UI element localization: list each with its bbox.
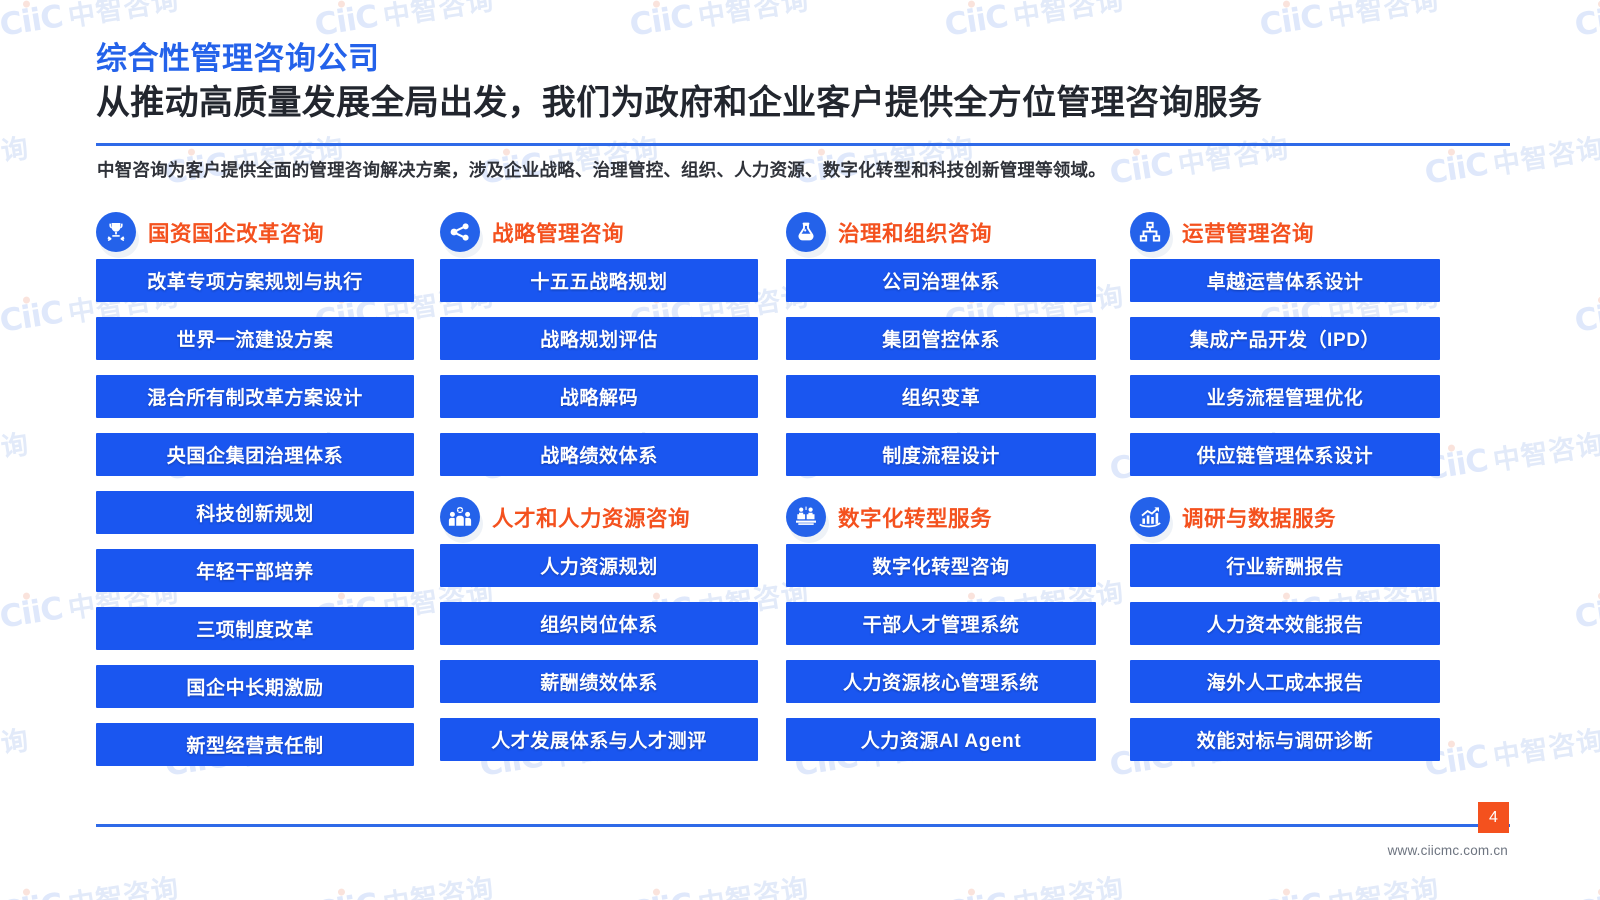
watermark-brand-text: 中智咨询 (1325, 866, 1442, 900)
service-item[interactable]: 海外人工成本报告 (1130, 660, 1440, 703)
watermark-logo-text: CiiC (1572, 886, 1600, 900)
watermark-brand-text: 中智咨询 (0, 126, 32, 182)
service-item[interactable]: 集成产品开发（IPD） (1130, 317, 1440, 360)
service-item[interactable]: 数字化转型咨询 (786, 544, 1096, 587)
service-item[interactable]: 卓越运营体系设计 (1130, 259, 1440, 302)
watermark-logo-text: CiiC (1572, 294, 1600, 339)
group-header: 人才和人力资源咨询 (440, 490, 758, 544)
service-item[interactable]: 薪酬绩效体系 (440, 660, 758, 703)
watermark: CiiC中智咨询 (0, 866, 182, 900)
watermark: CiiC中智咨询 (1257, 866, 1442, 900)
watermark-brand-text: 中智咨询 (1490, 422, 1600, 478)
watermark-logo-text: CiiC (312, 0, 380, 43)
group-header: 运营管理咨询 (1130, 205, 1440, 259)
service-item[interactable]: 制度流程设计 (786, 433, 1096, 476)
service-item[interactable]: 十五五战略规划 (440, 259, 758, 302)
service-item[interactable]: 人力资源核心管理系统 (786, 660, 1096, 703)
service-item[interactable]: 战略绩效体系 (440, 433, 758, 476)
group-column-2: 战略管理咨询十五五战略规划战略规划评估战略解码战略绩效体系 人才和人力资源咨询人… (440, 205, 758, 761)
watermark: CiiC中智咨询 (627, 866, 812, 900)
service-item[interactable]: 国企中长期激励 (96, 665, 414, 708)
service-item[interactable]: 效能对标与调研诊断 (1130, 718, 1440, 761)
service-item[interactable]: 人才发展体系与人才测评 (440, 718, 758, 761)
share-nodes-icon (440, 212, 480, 252)
service-item[interactable]: 新型经营责任制 (96, 723, 414, 766)
people-group-icon (440, 497, 480, 537)
group-title: 运营管理咨询 (1182, 217, 1314, 248)
watermark: CiiC中智咨询 (1257, 0, 1442, 45)
service-item[interactable]: 年轻干部培养 (96, 549, 414, 592)
watermark-brand-text: 中智咨询 (1490, 718, 1600, 774)
group-title: 数字化转型服务 (838, 502, 992, 533)
watermark-logo-text: CiiC (1257, 0, 1325, 43)
page-eyebrow: 综合性管理咨询公司 (96, 42, 380, 76)
trophy-wreath-icon (96, 212, 136, 252)
watermark: CiiC中智咨询 (1422, 126, 1600, 193)
group-title: 战略管理咨询 (492, 217, 624, 248)
watermark-logo-text: CiiC (0, 886, 65, 900)
footer-website: www.ciicmc.com.cn (1388, 843, 1508, 858)
watermark: CiiC中智咨询 (1572, 866, 1600, 900)
group-title: 人才和人力资源咨询 (492, 502, 690, 533)
service-item[interactable]: 人力资本效能报告 (1130, 602, 1440, 645)
footer-divider (96, 824, 1510, 827)
watermark-brand-text: 中智咨询 (0, 422, 32, 478)
watermark-logo-text: CiiC (1422, 146, 1490, 191)
group-header: 战略管理咨询 (440, 205, 758, 259)
service-item[interactable]: 人力资源规划 (440, 544, 758, 587)
service-item[interactable]: 组织变革 (786, 375, 1096, 418)
service-item[interactable]: 央国企集团治理体系 (96, 433, 414, 476)
watermark-logo-text: CiiC (1572, 590, 1600, 635)
watermark-brand-text: 中智咨询 (65, 866, 182, 900)
watermark-logo-text: CiiC (942, 0, 1010, 43)
group-title: 治理和组织咨询 (838, 217, 992, 248)
group-column-3: 治理和组织咨询公司治理体系集团管控体系组织变革制度流程设计 数字化转型服务数字化… (786, 205, 1096, 761)
service-item[interactable]: 公司治理体系 (786, 259, 1096, 302)
watermark: CiiC中智咨询 (1572, 0, 1600, 45)
watermark-brand-text: 中智咨询 (695, 866, 812, 900)
watermark-logo-text: CiiC (0, 0, 65, 43)
org-chart-icon (1130, 212, 1170, 252)
watermark: CiiC中智咨询 (1107, 126, 1292, 193)
watermark-logo-text: CiiC (627, 886, 695, 900)
watermark-brand-text: 中智咨询 (1490, 126, 1600, 182)
watermark-brand-text: 中智咨询 (695, 0, 812, 34)
digital-people-icon (786, 497, 826, 537)
watermark: CiiC中智咨询 (1572, 274, 1600, 341)
watermark-logo-text: CiiC (942, 886, 1010, 900)
service-item[interactable]: 干部人才管理系统 (786, 602, 1096, 645)
growth-chart-icon (1130, 497, 1170, 537)
page-title: 从推动高质量发展全局出发，我们为政府和企业客户提供全方位管理咨询服务 (96, 84, 1262, 123)
watermark-brand-text: 中智咨询 (0, 718, 32, 774)
service-item[interactable]: 集团管控体系 (786, 317, 1096, 360)
service-item[interactable]: 改革专项方案规划与执行 (96, 259, 414, 302)
watermark-brand-text: 中智咨询 (380, 0, 497, 34)
watermark: CiiC中智咨询 (942, 0, 1127, 45)
watermark: CiiC中智咨询 (942, 866, 1127, 900)
service-item[interactable]: 战略解码 (440, 375, 758, 418)
service-item[interactable]: 科技创新规划 (96, 491, 414, 534)
service-item[interactable]: 供应链管理体系设计 (1130, 433, 1440, 476)
service-item[interactable]: 三项制度改革 (96, 607, 414, 650)
watermark: CiiC中智咨询 (1422, 718, 1600, 785)
watermark-brand-text: 中智咨询 (1010, 866, 1127, 900)
watermark-brand-text: 中智咨询 (1010, 0, 1127, 34)
page-number-badge: 4 (1478, 802, 1509, 833)
slide-canvas: CiiC中智咨询CiiC中智咨询CiiC中智咨询CiiC中智咨询CiiC中智咨询… (0, 0, 1600, 900)
group-header: 治理和组织咨询 (786, 205, 1096, 259)
watermark: CiiC中智咨询 (1572, 570, 1600, 637)
group-header: 国资国企改革咨询 (96, 205, 414, 259)
service-item[interactable]: 混合所有制改革方案设计 (96, 375, 414, 418)
watermark-brand-text: 中智咨询 (380, 866, 497, 900)
service-item[interactable]: 世界一流建设方案 (96, 317, 414, 360)
watermark: CiiC中智咨询 (312, 0, 497, 45)
watermark-brand-text: 中智咨询 (1175, 126, 1292, 182)
watermark: CiiC中智咨询 (627, 0, 812, 45)
group-title: 调研与数据服务 (1182, 502, 1336, 533)
watermark-logo-text: CiiC (312, 886, 380, 900)
group-column-1: 国资国企改革咨询改革专项方案规划与执行世界一流建设方案混合所有制改革方案设计央国… (96, 205, 414, 766)
watermark: CiiC中智咨询 (0, 126, 32, 193)
group-column-4: 运营管理咨询卓越运营体系设计集成产品开发（IPD）业务流程管理优化供应链管理体系… (1130, 205, 1440, 761)
watermark: CiiC中智咨询 (1422, 422, 1600, 489)
watermark: CiiC中智咨询 (0, 422, 32, 489)
watermark-brand-text: 中智咨询 (1325, 0, 1442, 34)
page-subtitle: 中智咨询为客户提供全面的管理咨询解决方案，涉及企业战略、治理管控、组织、人力资源… (97, 157, 1106, 182)
flask-icon (786, 212, 826, 252)
watermark: CiiC中智咨询 (0, 718, 32, 785)
watermark-brand-text: 中智咨询 (65, 0, 182, 34)
watermark-logo-text: CiiC (0, 590, 65, 635)
service-item[interactable]: 战略规划评估 (440, 317, 758, 360)
watermark-logo-text: CiiC (1572, 0, 1600, 43)
watermark: CiiC中智咨询 (0, 0, 182, 45)
service-item[interactable]: 人力资源AI Agent (786, 718, 1096, 761)
service-item[interactable]: 组织岗位体系 (440, 602, 758, 645)
service-item[interactable]: 行业薪酬报告 (1130, 544, 1440, 587)
watermark-logo-text: CiiC (0, 294, 65, 339)
watermark-logo-text: CiiC (1107, 146, 1175, 191)
group-title: 国资国企改革咨询 (148, 217, 324, 248)
watermark-logo-text: CiiC (627, 0, 695, 43)
title-divider (96, 143, 1510, 146)
service-item[interactable]: 业务流程管理优化 (1130, 375, 1440, 418)
watermark-logo-text: CiiC (1257, 886, 1325, 900)
group-header: 调研与数据服务 (1130, 490, 1440, 544)
watermark: CiiC中智咨询 (312, 866, 497, 900)
group-header: 数字化转型服务 (786, 490, 1096, 544)
